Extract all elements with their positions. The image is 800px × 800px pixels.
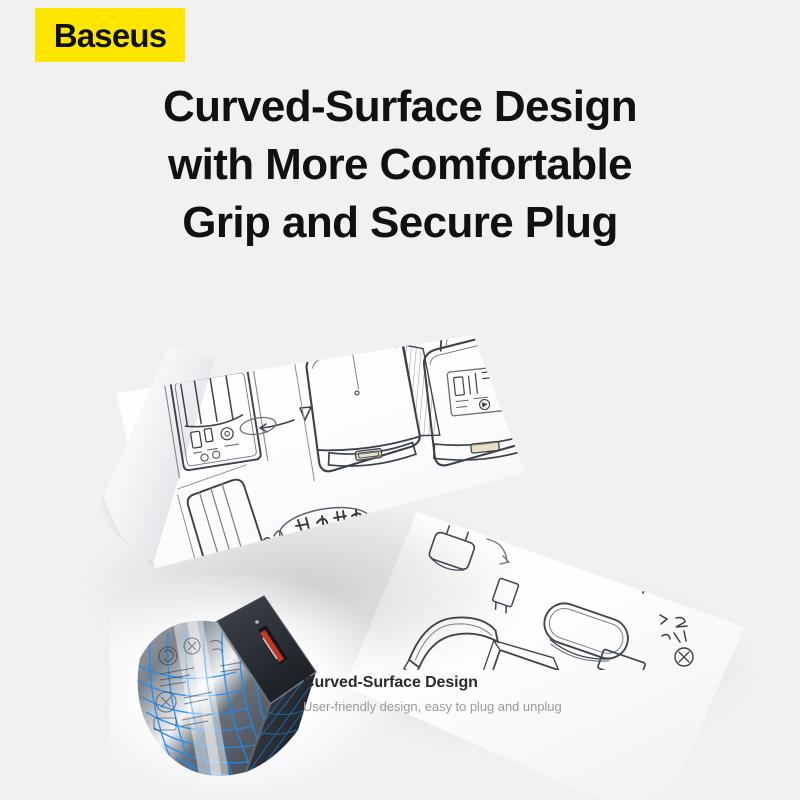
feature-caption: Curved-Surface Design User-friendly desi… [303, 672, 723, 717]
headline-line-3: Grip and Secure Plug [0, 194, 800, 252]
caption-title: Curved-Surface Design [303, 672, 723, 694]
headline-line-1: Curved-Surface Design [0, 78, 800, 136]
brand-logo: Baseus [35, 8, 185, 62]
headline-line-2: with More Comfortable [0, 136, 800, 194]
marketing-banner: Baseus Curved-Surface Design with More C… [0, 0, 800, 800]
brand-wordmark: Baseus [54, 19, 167, 52]
caption-subtitle: User-friendly design, easy to plug and u… [303, 697, 723, 717]
page-title: Curved-Surface Design with More Comforta… [0, 78, 800, 252]
